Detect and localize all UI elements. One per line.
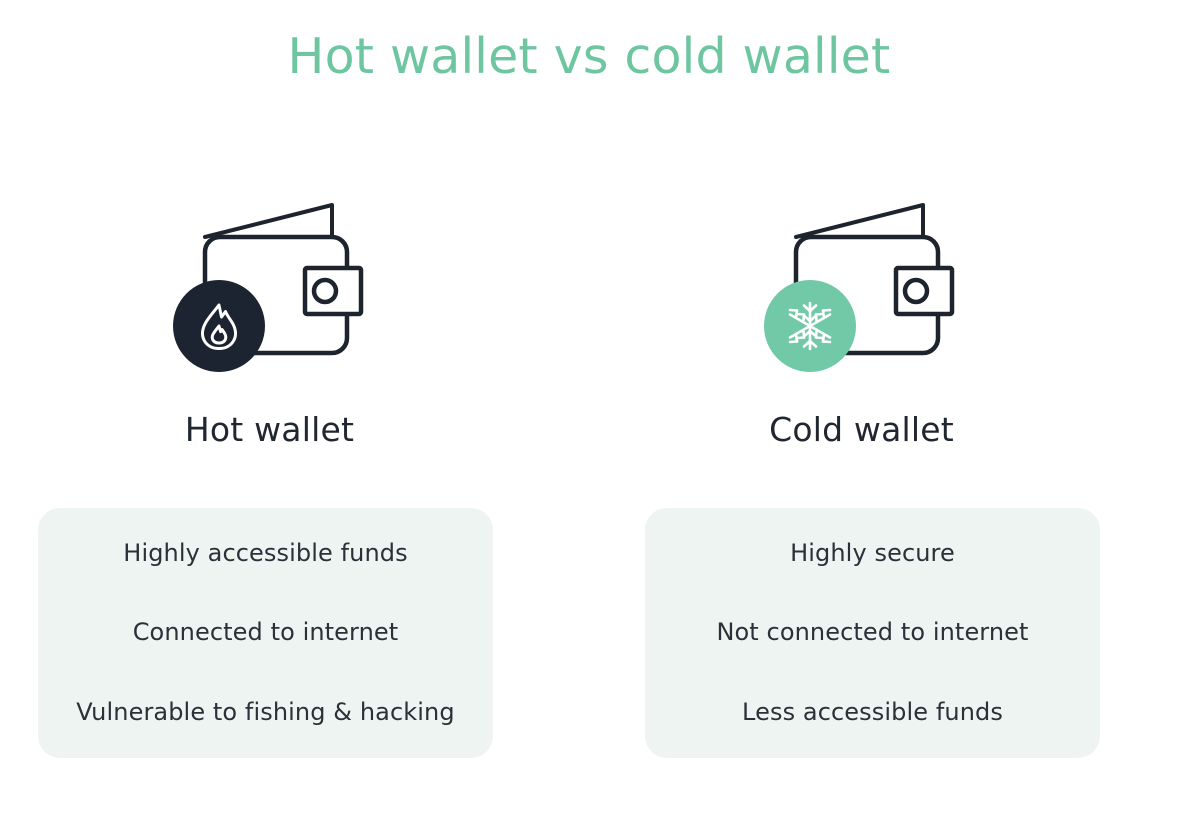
feature-item: Highly accessible funds <box>56 538 475 569</box>
feature-item: Less accessible funds <box>663 697 1082 728</box>
hot-wallet-illustration <box>165 190 375 375</box>
cold-wallet-label: Cold wallet <box>567 410 1156 449</box>
cold-badge <box>764 280 856 372</box>
infographic-root: Hot wallet vs cold wallet <box>0 0 1178 814</box>
hot-wallet-label: Hot wallet <box>0 410 564 449</box>
hot-badge <box>173 280 265 372</box>
flame-icon <box>196 301 242 351</box>
feature-item: Highly secure <box>663 538 1082 569</box>
cold-wallet-illustration <box>756 190 966 375</box>
comparison-columns: Hot wallet Highly accessible funds Conne… <box>0 0 1178 814</box>
cold-wallet-feature-card: Highly secure Not connected to internet … <box>645 508 1100 758</box>
column-cold-wallet: Cold wallet Highly secure Not connected … <box>589 0 1178 814</box>
snowflake-icon <box>784 300 836 352</box>
feature-item: Connected to internet <box>56 617 475 648</box>
feature-item: Vulnerable to fishing & hacking <box>56 697 475 728</box>
column-hot-wallet: Hot wallet Highly accessible funds Conne… <box>0 0 589 814</box>
hot-wallet-feature-card: Highly accessible funds Connected to int… <box>38 508 493 758</box>
feature-item: Not connected to internet <box>663 617 1082 648</box>
